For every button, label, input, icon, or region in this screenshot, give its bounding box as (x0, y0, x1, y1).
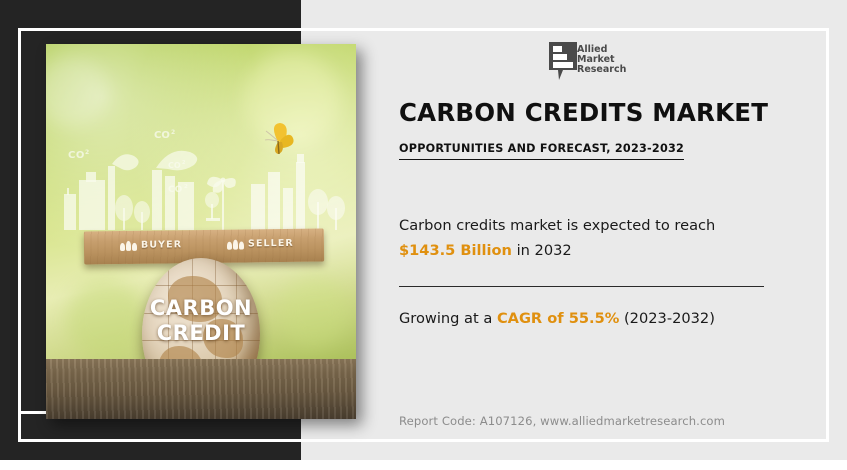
svg-text:CO: CO (168, 161, 181, 170)
plank-seller-label: SELLER (248, 238, 294, 250)
bokeh-blob (66, 280, 146, 360)
svg-text:CO: CO (168, 185, 183, 195)
bokeh-blob (278, 276, 350, 348)
growth-value-text: CAGR of 55.5% (497, 310, 619, 327)
stat-value-text: $143.5 Billion (399, 242, 512, 259)
svg-text:2: 2 (182, 160, 186, 166)
speech-bubble-logo-icon: Allied Market Research (547, 40, 629, 82)
report-subtitle: OPPORTUNITIES AND FORECAST, 2023-2032 (399, 142, 684, 160)
growth-line: Growing at a CAGR of 55.5% (2023-2032) (399, 308, 777, 330)
people-icon (227, 239, 244, 250)
city-skyline-illustration: CO 2 CO 2 CO 2 CO 2 (46, 122, 356, 240)
svg-text:2: 2 (171, 129, 175, 136)
stat-intro-line: Carbon credits market is expected to rea… (399, 213, 777, 238)
svg-text:CO: CO (68, 150, 85, 161)
report-banner: CO 2 CO 2 CO 2 CO 2 (0, 0, 847, 470)
wood-texture (46, 359, 356, 419)
stat-intro-text: Carbon credits market is expected to rea… (399, 217, 715, 234)
report-content: Allied Market Research CARBON CREDITS MA… (399, 40, 777, 330)
globe-label-line1: CARBON (142, 296, 260, 321)
svg-text:2: 2 (85, 149, 89, 156)
butterfly-icon (258, 120, 298, 160)
svg-text:CO: CO (154, 130, 170, 141)
svg-text:2: 2 (184, 184, 188, 190)
report-footer: Report Code: A107126, www.alliedmarketre… (399, 414, 725, 428)
plank-buyer-label: BUYER (141, 239, 182, 251)
plank-seller-group: SELLER (227, 238, 294, 250)
wood-log-ground (46, 359, 356, 419)
page-title: CARBON CREDITS MARKET (399, 100, 777, 127)
section-divider (399, 286, 764, 287)
people-icon (120, 240, 137, 251)
hero-photo: CO 2 CO 2 CO 2 CO 2 (46, 44, 356, 419)
svg-text:Research: Research (577, 64, 627, 75)
stat-value-line: $143.5 Billion in 2032 (399, 238, 777, 263)
growth-period-text: (2023-2032) (619, 310, 715, 327)
stat-suffix-text: in 2032 (512, 242, 572, 259)
globe-label-line2: CREDIT (142, 321, 260, 346)
statistics-block: Carbon credits market is expected to rea… (399, 213, 777, 330)
allied-market-research-logo[interactable]: Allied Market Research (547, 40, 629, 82)
plank-buyer-group: BUYER (120, 239, 182, 251)
growth-intro-text: Growing at a (399, 310, 497, 327)
brand-logo-wrapper[interactable]: Allied Market Research (399, 40, 777, 82)
